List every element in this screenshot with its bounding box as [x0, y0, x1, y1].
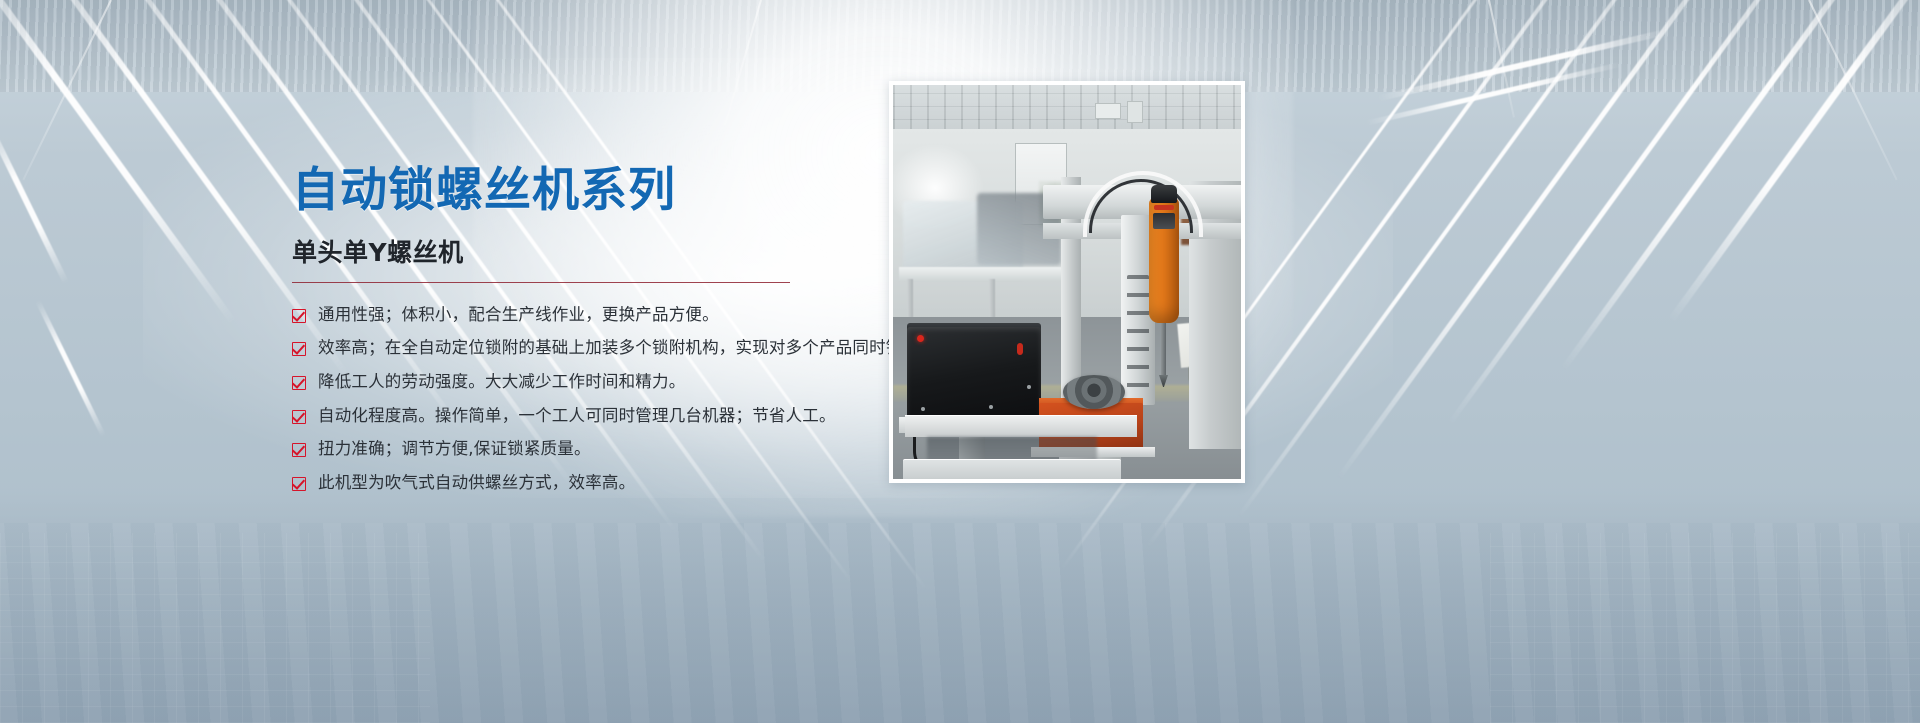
screw-feeder-unit [907, 327, 1041, 421]
text-column: 自动锁螺丝机系列 单头单Y螺丝机 通用性强；体积小，配合生产线作业，更换产品方便… [292, 166, 892, 507]
title-divider [292, 282, 790, 283]
list-item: 自动化程度高。操作简单，一个工人可同时管理几台机器；节省人工。 [292, 406, 892, 427]
photo-wall-sign-secondary [1127, 101, 1143, 123]
feature-text: 自动化程度高。操作简单，一个工人可同时管理几台机器；节省人工。 [318, 406, 836, 427]
list-item: 此机型为吹气式自动供螺丝方式，效率高。 [292, 473, 892, 494]
check-icon [292, 309, 306, 323]
feature-text: 降低工人的劳动强度。大大减少工作时间和精力。 [318, 372, 685, 393]
check-icon [292, 376, 306, 390]
photo-ceiling [893, 85, 1241, 133]
screwdriver-label [1153, 213, 1175, 229]
workpiece-part [1063, 375, 1125, 409]
check-icon [292, 342, 306, 356]
feature-text: 此机型为吹气式自动供螺丝方式，效率高。 [318, 473, 635, 494]
feature-list: 通用性强；体积小，配合生产线作业，更换产品方便。 效率高；在全自动定位锁附的基础… [292, 305, 892, 494]
check-icon [292, 443, 306, 457]
page-subtitle: 单头单Y螺丝机 [292, 233, 892, 269]
screwdriver-indicator [1154, 205, 1174, 210]
screwdriver-bit [1161, 323, 1166, 379]
screwdriver-cap [1151, 185, 1177, 203]
feeder-bolt [921, 407, 925, 411]
check-icon [292, 410, 306, 424]
feeder-status-led [1017, 343, 1023, 355]
product-banner: 自动锁螺丝机系列 单头单Y螺丝机 通用性强；体积小，配合生产线作业，更换产品方便… [0, 0, 1920, 723]
list-item: 通用性强；体积小，配合生产线作业，更换产品方便。 [292, 305, 892, 326]
feeder-power-led [917, 335, 924, 342]
photo-wall-sign [1095, 103, 1121, 119]
product-photo: 0.0.0. [893, 85, 1241, 479]
feature-text: 通用性强；体积小，配合生产线作业，更换产品方便。 [318, 305, 719, 326]
feature-text: 扭力准确；调节方便,保证锁紧质量。 [318, 439, 591, 460]
machine-base-plate [905, 415, 1137, 437]
feeder-bolt [1027, 385, 1031, 389]
feature-text: 效率高；在全自动定位锁附的基础上加装多个锁附机构，实现对多个产品同时锁附。 [318, 338, 936, 359]
list-item: 效率高；在全自动定位锁附的基础上加装多个锁附机构，实现对多个产品同时锁附。 [292, 338, 892, 359]
machine-z-slide-holes [1127, 275, 1149, 395]
list-item: 扭力准确；调节方便,保证锁紧质量。 [292, 439, 892, 460]
page-title: 自动锁螺丝机系列 [292, 166, 892, 217]
list-item: 降低工人的劳动强度。大大减少工作时间和精力。 [292, 372, 892, 393]
feeder-bolt [989, 405, 993, 409]
control-panel[interactable]: 0.0.0. [903, 459, 1121, 479]
check-icon [292, 477, 306, 491]
product-photo-frame: 0.0.0. [889, 81, 1245, 483]
